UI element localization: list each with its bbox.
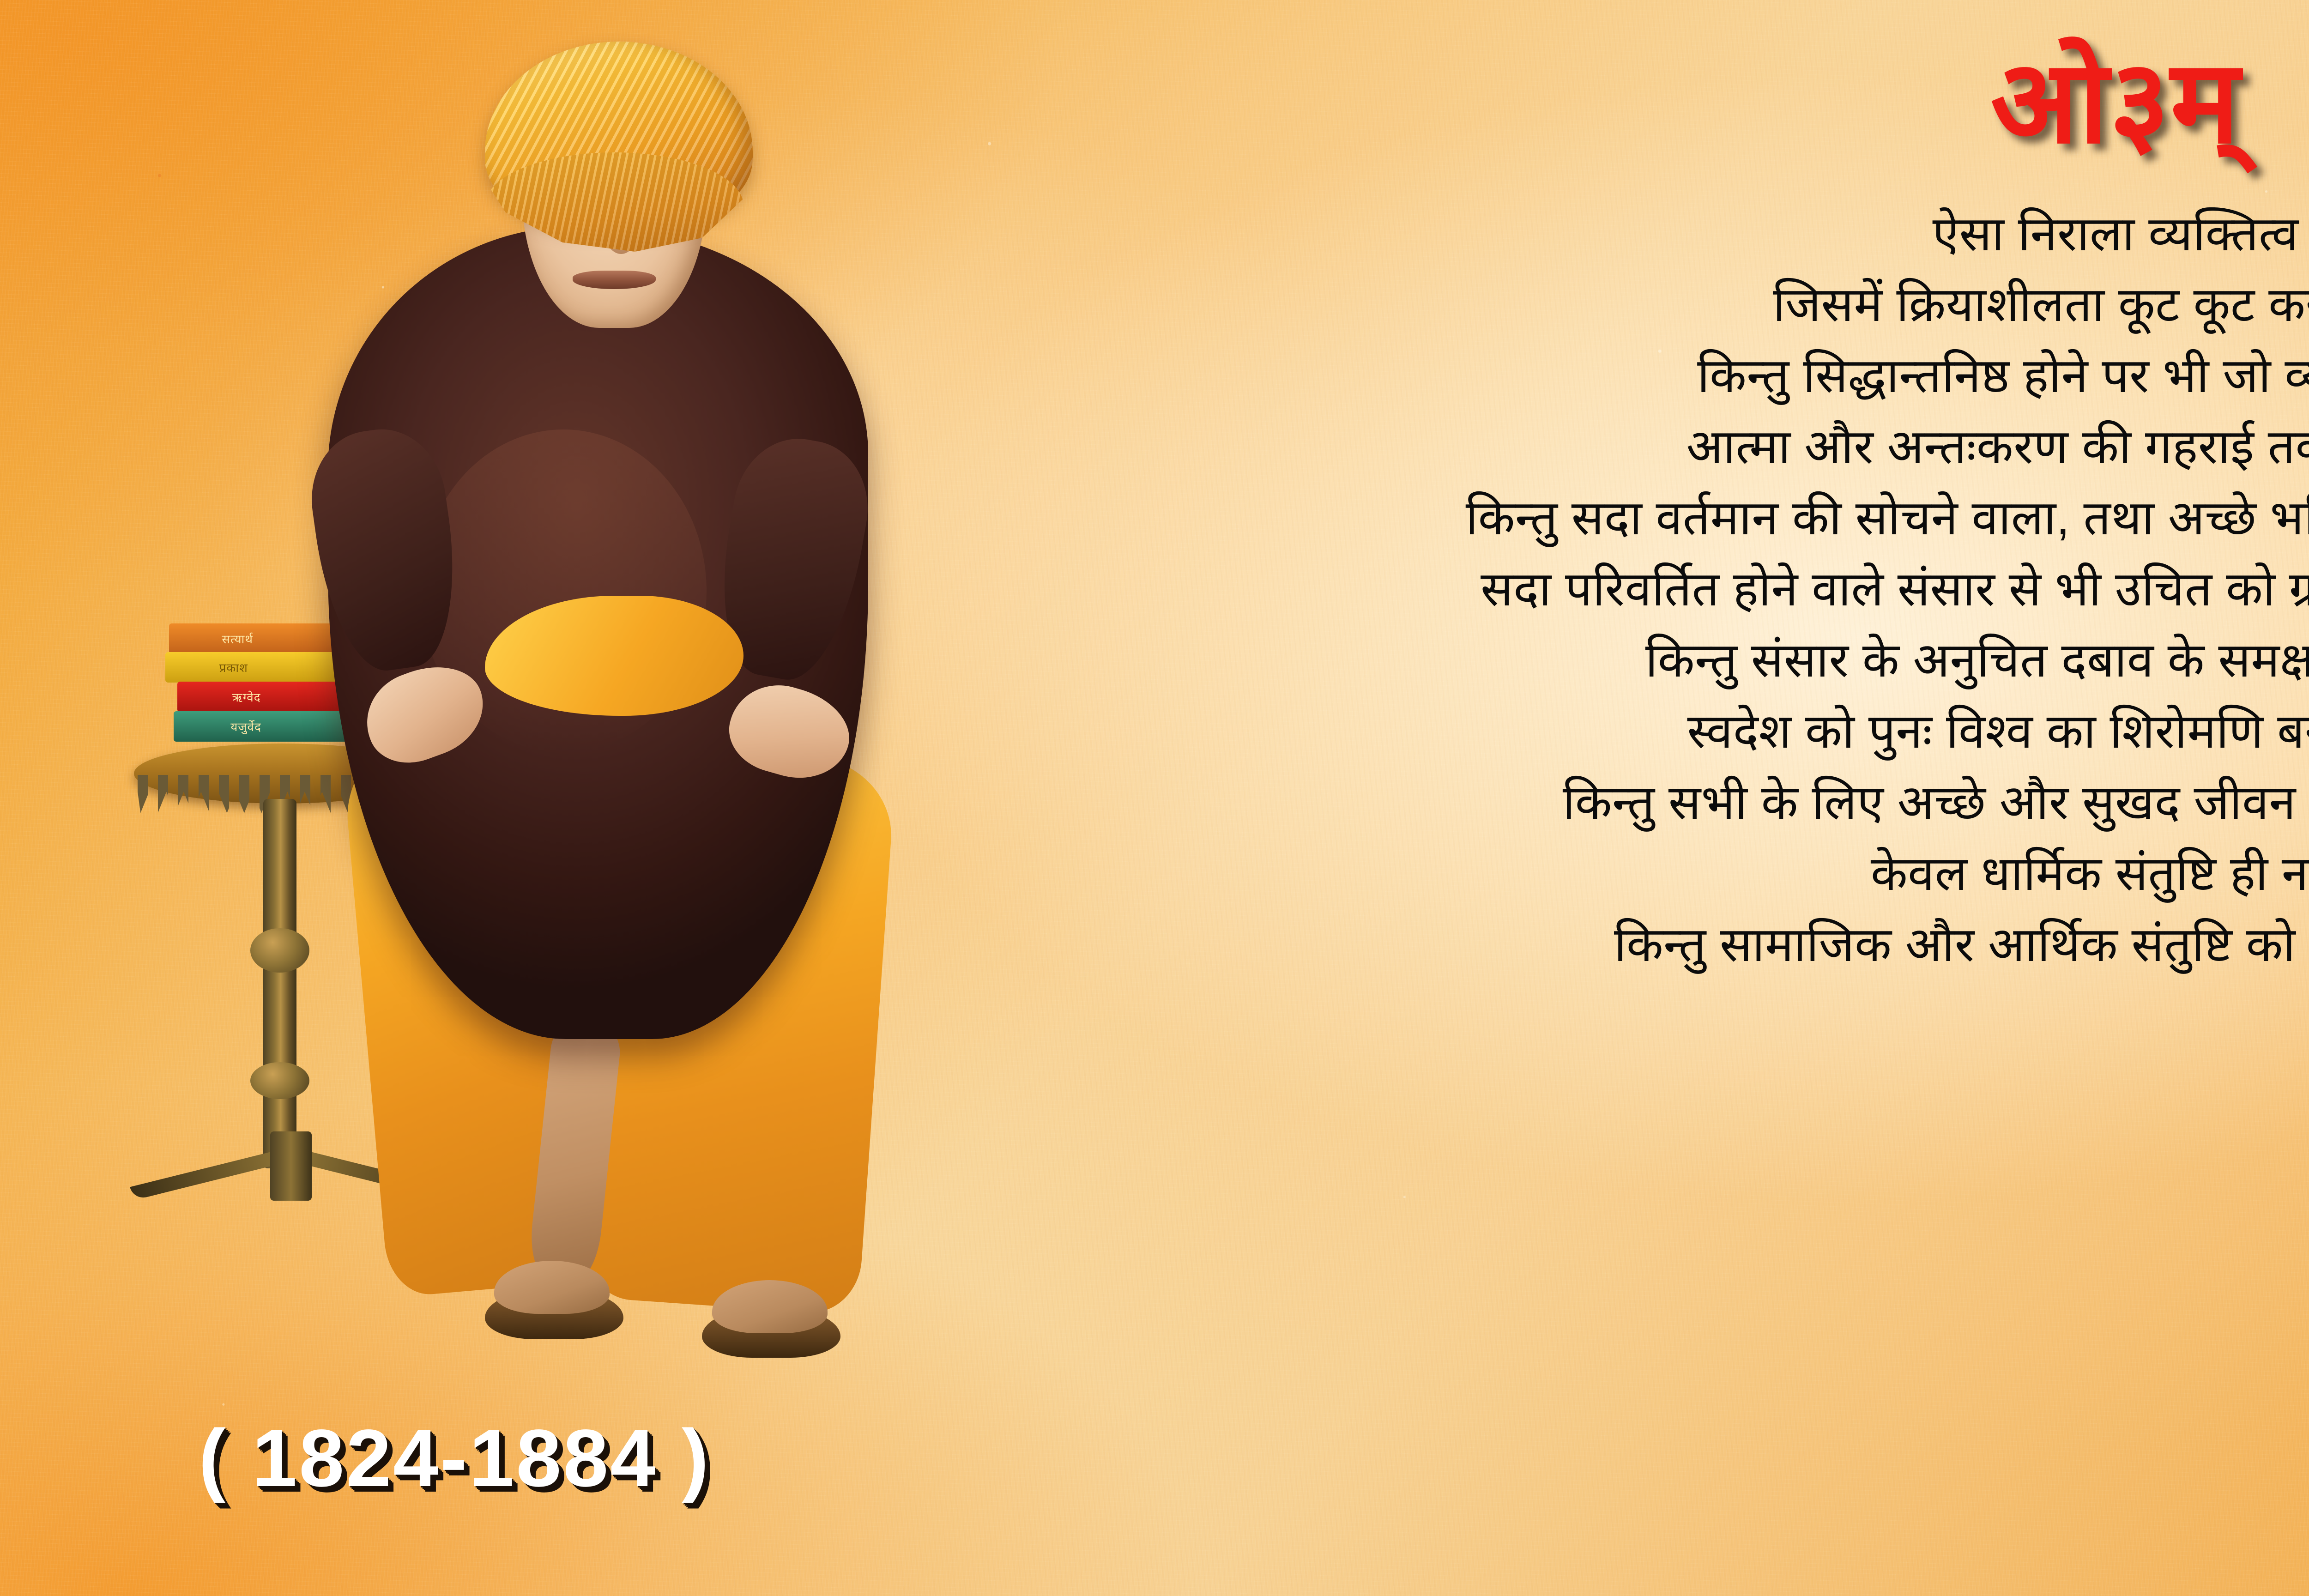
om-title: ओ३म् [1990,42,2240,163]
saint-portrait-illustration: सत्यार्थ प्रकाश ऋग्वेद यजुर्वेद [69,14,1039,1422]
mouth [573,271,656,289]
poem-line: सदा परिवर्तित होने वाले संसार से भी उचित… [1481,554,2309,625]
book-title: ऋग्वेद [232,689,261,705]
book-title: यजुर्वेद [230,718,261,735]
poem-line: किन्तु संसार के अनुचित दबाव के समक्ष न झ… [1645,625,2309,696]
book-title: सत्यार्थ [222,630,253,647]
table-knob-lower [250,1062,309,1099]
table-knob-upper [250,928,309,973]
life-years-caption: ( 1824-1884 ) [199,1418,711,1499]
poem-line: किन्तु सिद्धान्तनिष्ठ होने पर भी जो व्या… [1697,341,2309,412]
book-title: प्रकाश [219,659,248,676]
table-stem [263,799,296,1168]
poem-line: स्वदेश को पुनः विश्व का शिरोमणि बनाने का… [1687,696,2309,768]
poem-line: ऐसा निराला व्यक्तित्व [1933,199,2299,270]
poem-line: किन्तु सभी के लिए अच्छे और सुखद जीवन का … [1563,768,2309,839]
poem-line: केवल धार्मिक संतुष्टि ही नहीं, [1871,839,2309,910]
poem-line: किन्तु सामाजिक और आर्थिक संतुष्टि को लक्… [1614,910,2309,981]
poster-canvas: सत्यार्थ प्रकाश ऋग्वेद यजुर्वेद [0,0,2309,1596]
poem-line: आत्मा और अन्तःकरण की गहराई तक पहुंचा हुआ… [1686,412,2309,483]
text-panel: ओ३म् ऐसा निराला व्यक्तित्व जिसमें क्रिया… [1039,0,2309,1596]
poem-line: किन्तु सदा वर्तमान की सोचने वाला, तथा अच… [1466,483,2309,554]
table-leg-center [270,1131,312,1201]
table-leg-left [130,1150,281,1201]
poem-line: जिसमें क्रियाशीलता कूट कूट कर भरी है, [1773,270,2309,341]
poem-block: ऐसा निराला व्यक्तित्व जिसमें क्रियाशीलता… [1039,199,2309,981]
